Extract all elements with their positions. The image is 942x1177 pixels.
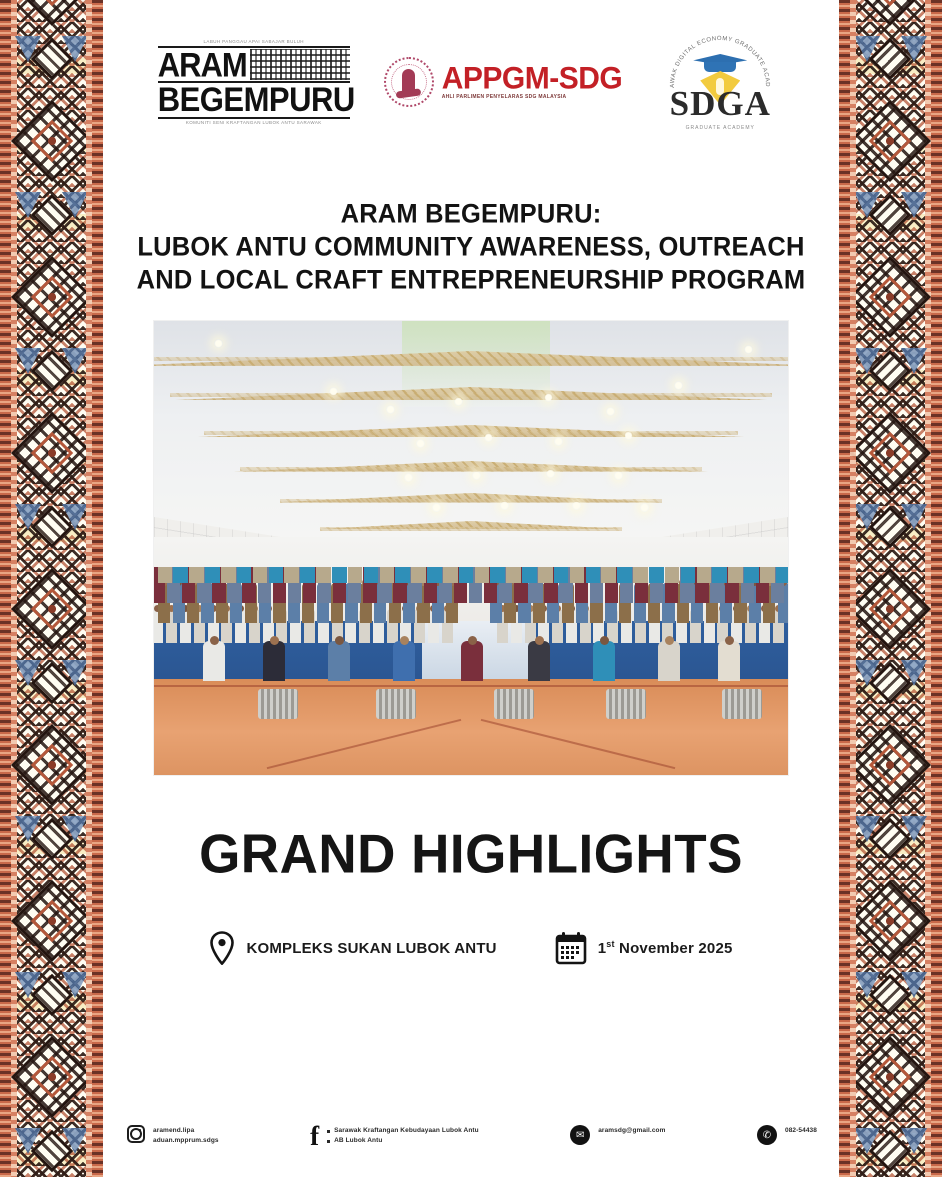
poster-title: ARAM BEGEMPURU: LUBOK ANTU COMMUNITY AWA… [103,198,839,297]
title-line-1: ARAM BEGEMPURU: [107,197,835,232]
poster-content: LABUH PANGGAU APAI SABAJAR BULUH ARAM BE… [103,0,839,1177]
phone-number: 082-54438 [785,1127,817,1135]
phone-contact[interactable]: ✆ 082-54438 [757,1125,817,1145]
border-rail-inner-secondary [850,0,856,1177]
facebook-icon: f [310,1125,319,1147]
border-motif-column [856,0,925,1177]
aram-logo-micro-bottom: KOMUNITI SENI KRAFTANGAN LUBOK ANTU SARA… [158,120,350,126]
bullet-dot [327,1140,330,1143]
aram-logo-line2: BEGEMPURU [158,82,350,118]
title-line-2: LUBOK ANTU COMMUNITY AWARENESS, OUTREACH [107,230,835,265]
calendar-icon [555,931,587,965]
appgm-sdg-logo: APPGM-SDG AHLI PARLIMEN PENYELARAS SDG M… [384,57,623,107]
date-day: 1 [598,940,607,957]
instagram-handle-1: aramend.lipa [153,1127,219,1135]
page-heading: GRAND HIGHLIGHTS [199,826,743,884]
logo-row: LABUH PANGGAU APAI SABAJAR BULUH ARAM BE… [103,0,839,150]
ornamental-border-left [0,0,103,1177]
email-contact[interactable]: ✉ aramsdg@gmail.com [570,1125,665,1145]
sdga-wordmark: SDGA [656,86,784,121]
border-rail-inner [839,0,850,1177]
border-rail-outer [0,0,11,1177]
graduation-cap-icon [693,54,747,71]
facebook-page-1: Sarawak Kraftangan Kebudayaan Lubok Antu [334,1127,479,1135]
instagram-icon [127,1125,145,1143]
instagram-contact[interactable]: aramend.lipa aduan.mpprum.sdgs [127,1125,219,1145]
phone-icon: ✆ [757,1125,777,1145]
photo-crowd [154,567,788,695]
sdga-tagline: GRADUATE ACADEMY [656,125,784,131]
date-item: 1st November 2025 [555,931,733,965]
email-address: aramsdg@gmail.com [598,1127,665,1135]
ornamental-border-right [839,0,942,1177]
date-rest: November 2025 [615,940,733,957]
facebook-page-2: AB Lubok Antu [334,1137,382,1145]
border-rail-inner [92,0,103,1177]
footer-contact-row: aramend.lipa aduan.mpprum.sdgs f Sarawak… [103,1125,839,1147]
date-ordinal: st [606,939,614,949]
border-rail-outer-secondary [925,0,931,1177]
venue-item: KOMPLEKS SUKAN LUBOK ANTU [209,931,496,965]
sdga-logo: SARAWAK DIGITAL ECONOMY GRADUATE ACADEMY… [656,30,784,134]
border-rail-outer [931,0,942,1177]
appgm-seal-icon [384,57,434,107]
appgm-seal-glyph [402,69,415,95]
date-label: 1st November 2025 [598,939,733,957]
appgm-wordmark: APPGM-SDG [442,63,623,95]
aram-logo-pattern-block [250,49,350,80]
venue-label: KOMPLEKS SUKAN LUBOK ANTU [246,940,496,957]
event-meta-row: KOMPLEKS SUKAN LUBOK ANTU 1st November 2… [209,931,732,965]
event-group-photo [154,321,788,775]
bullet-dot [327,1130,330,1133]
aram-logo-line1: ARAM [158,47,247,82]
email-icon: ✉ [570,1125,590,1145]
title-line-3: AND LOCAL CRAFT ENTREPRENEURSHIP PROGRAM [107,263,835,298]
aram-begempuru-logo: LABUH PANGGAU APAI SABAJAR BULUH ARAM BE… [158,39,350,126]
map-pin-icon [209,931,235,965]
border-motif-column [17,0,86,1177]
aram-logo-micro-top: LABUH PANGGAU APAI SABAJAR BULUH [158,39,350,45]
instagram-handle-2: aduan.mpprum.sdgs [153,1137,219,1145]
facebook-contact[interactable]: f Sarawak Kraftangan Kebudayaan Lubok An… [310,1125,479,1147]
